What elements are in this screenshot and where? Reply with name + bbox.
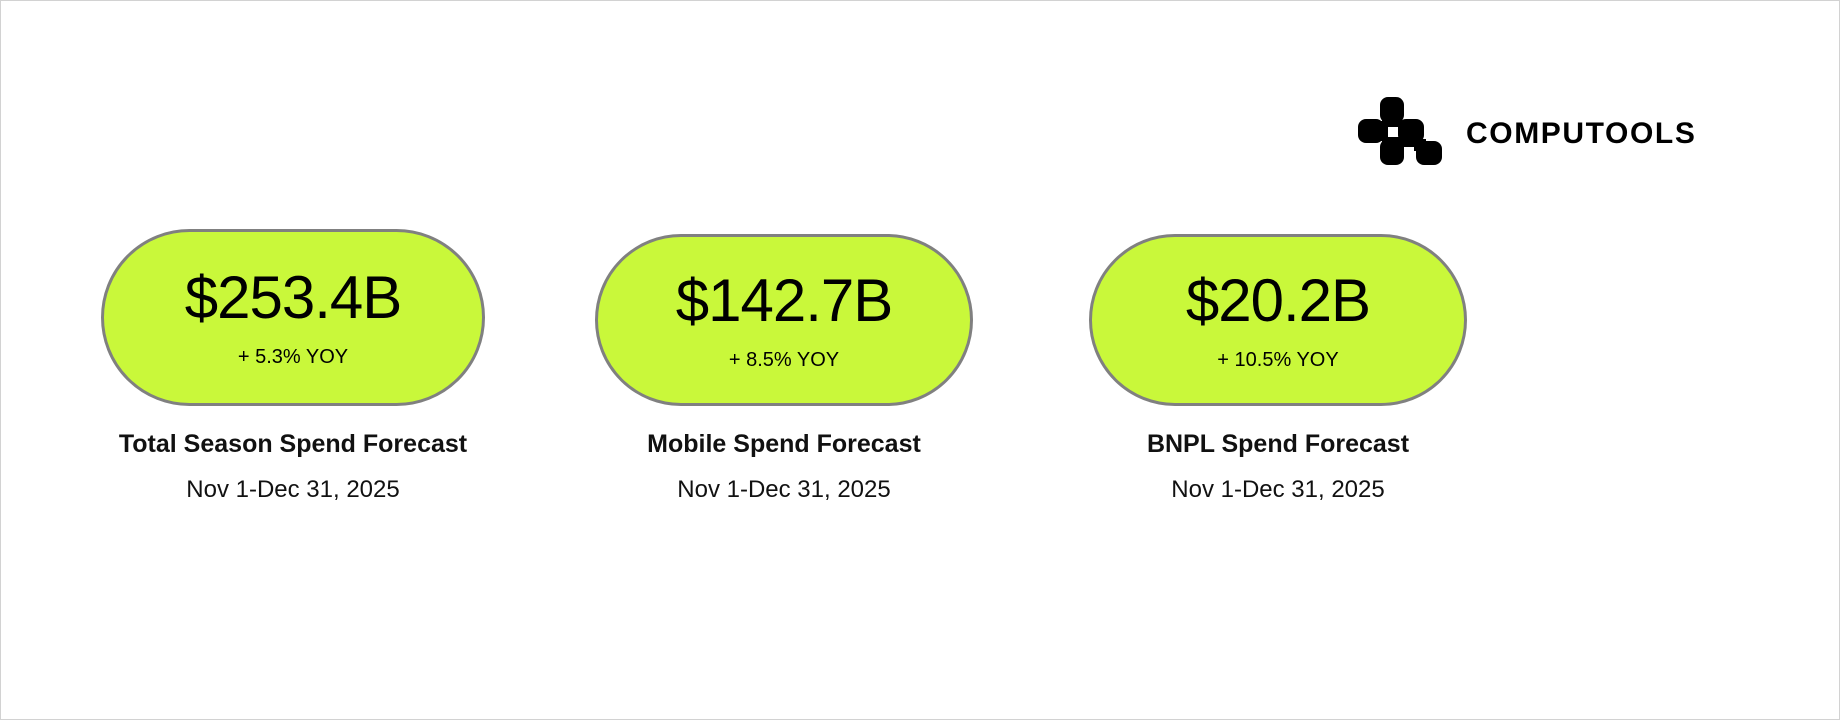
metric-card: $253.4B + 5.3% YOY Total Season Spend Fo… xyxy=(101,229,485,502)
metric-pill: $142.7B + 8.5% YOY xyxy=(595,234,973,406)
metric-pill: $20.2B + 10.5% YOY xyxy=(1089,234,1467,406)
metric-yoy-delta: + 10.5% YOY xyxy=(1217,350,1338,370)
metric-yoy-delta: + 5.3% YOY xyxy=(238,347,348,367)
brand-lockup: COMPUTOOLS xyxy=(1358,97,1696,171)
metric-period: Nov 1-Dec 31, 2025 xyxy=(677,478,890,502)
metric-value: $142.7B xyxy=(676,271,893,331)
metric-title: Total Season Spend Forecast xyxy=(119,432,467,457)
metric-pill: $253.4B + 5.3% YOY xyxy=(101,229,485,406)
metric-card: $142.7B + 8.5% YOY Mobile Spend Forecast… xyxy=(595,234,973,502)
metric-title: BNPL Spend Forecast xyxy=(1147,432,1409,457)
metric-period: Nov 1-Dec 31, 2025 xyxy=(186,478,399,502)
computools-logo-icon xyxy=(1358,97,1444,171)
brand-name: COMPUTOOLS xyxy=(1466,119,1696,149)
metric-title: Mobile Spend Forecast xyxy=(647,432,921,457)
metric-value: $253.4B xyxy=(185,268,402,328)
metric-value: $20.2B xyxy=(1186,271,1370,331)
metric-period: Nov 1-Dec 31, 2025 xyxy=(1171,478,1384,502)
metric-card: $20.2B + 10.5% YOY BNPL Spend Forecast N… xyxy=(1089,234,1467,502)
infographic-canvas: COMPUTOOLS $253.4B + 5.3% YOY Total Seas… xyxy=(0,0,1840,720)
metric-yoy-delta: + 8.5% YOY xyxy=(729,350,839,370)
